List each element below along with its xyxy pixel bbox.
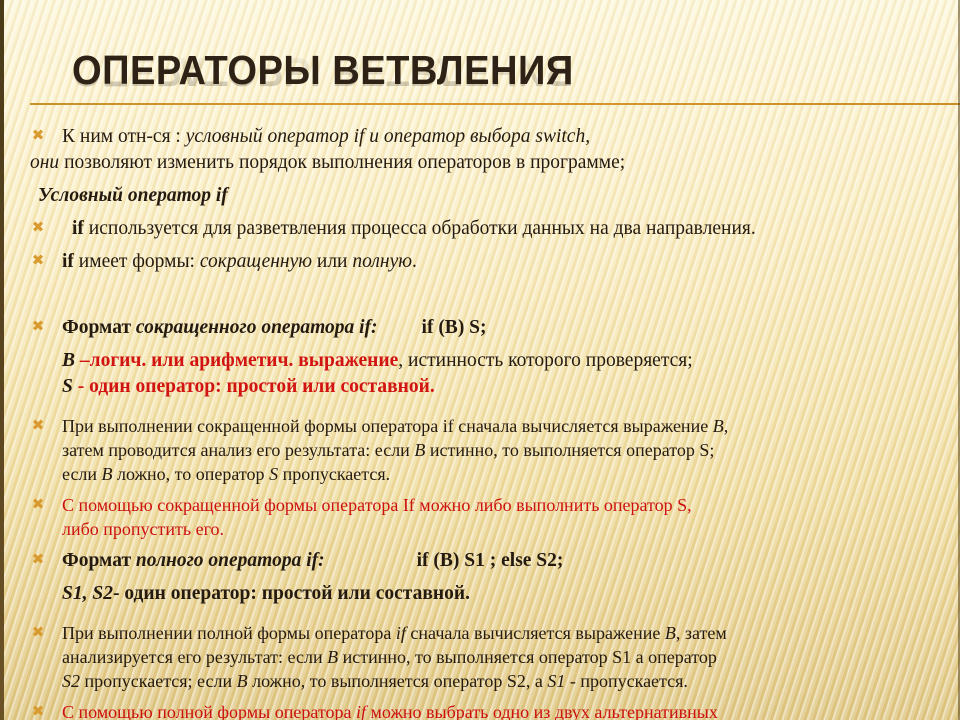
bullet-icon: ✖: [30, 625, 46, 641]
bullet-icon: ✖: [30, 253, 46, 269]
text-run: пропускается; если: [80, 671, 237, 691]
text-run-bold: if: [72, 218, 89, 239]
title-area: ОПЕРАТОРЫ ВЕТВЛЕНИЯ ОПЕРАТОРЫ ВЕТВЛЕНИЯ: [72, 47, 932, 107]
text-run: или: [312, 251, 352, 272]
list-item: ✖ if имеет формы: сокращенную или полную…: [0, 249, 960, 275]
text-run: сначала вычисляется выражение: [406, 623, 665, 643]
var-s1: S1: [547, 671, 565, 691]
line: С помощью полной формы оператора if можн…: [62, 700, 942, 720]
bullet-icon: ✖: [30, 704, 46, 720]
paragraph-text: они позволяют изменить порядок выполнени…: [30, 150, 942, 176]
paragraph: они позволяют изменить порядок выполнени…: [0, 150, 960, 176]
bullet-icon: ✖: [30, 552, 46, 568]
list-item-short-form-desc: ✖ При выполнении сокращенной формы опера…: [0, 414, 960, 486]
keyword-if: if: [356, 702, 366, 720]
text-run-italic: условный оператор if и оператор выбора s…: [186, 126, 590, 147]
subheading: Условный оператор if: [0, 183, 960, 209]
list-item-format-short: ✖ Формат сокращенного оператора if:if (B…: [0, 315, 960, 341]
page-title: ОПЕРАТОРЫ ВЕТВЛЕНИЯ: [72, 47, 872, 93]
text-run: , истинность которого проверяется;: [398, 350, 692, 371]
text-run: С помощью полной формы оператора: [62, 702, 356, 720]
format-short-text: Формат сокращенного оператора if:if (B) …: [62, 315, 942, 341]
code-format-short: if (B) S;: [422, 317, 487, 338]
var-s2: S2: [62, 671, 80, 691]
keyword-if: if: [396, 623, 406, 643]
text-run: - пропускается.: [565, 671, 688, 691]
list-item: ✖ if используется для разветвления проце…: [0, 216, 960, 242]
var-s: S: [62, 376, 73, 397]
subheading-text: Условный оператор if: [30, 183, 942, 209]
slide: ОПЕРАТОРЫ ВЕТВЛЕНИЯ ОПЕРАТОРЫ ВЕТВЛЕНИЯ …: [0, 0, 960, 720]
text-run: - один оператор: простой или составной.: [113, 583, 470, 604]
red-note-2-text: С помощью полной формы оператора if можн…: [62, 700, 942, 720]
bullet-icon: ✖: [30, 319, 46, 335]
list-item-text: К ним отн-ся : условный оператор if и оп…: [62, 124, 942, 150]
text-run: пропускается.: [278, 464, 390, 484]
bullet-icon: ✖: [30, 497, 46, 513]
text-run-italic: сокращенную: [200, 251, 312, 272]
short-form-desc-text: При выполнении сокращенной формы операто…: [62, 414, 942, 486]
line: При выполнении сокращенной формы операто…: [62, 414, 942, 438]
text-run: имеет формы:: [74, 251, 200, 272]
text-run-bold-italic: полного оператора if:: [136, 550, 325, 571]
code-format-full: if (B) S1 ; else S2;: [417, 550, 564, 571]
text-run: К ним отн-ся :: [62, 126, 186, 147]
var-b: B: [62, 350, 75, 371]
var-s12: S1, S2: [62, 583, 113, 604]
title-divider: [30, 103, 960, 105]
definition-s12-text: S1, S2- один оператор: простой или соста…: [62, 581, 942, 607]
text-run: анализируется его результат: если: [62, 647, 327, 667]
var-b: B: [237, 671, 248, 691]
var-b: B: [327, 647, 338, 667]
list-item-format-full: ✖ Формат полного оператора if:if (B) S1 …: [0, 548, 960, 574]
text-run: можно выбрать одно из двух альтернативны…: [366, 702, 718, 720]
text-run-bold: Формат: [62, 317, 136, 338]
bullet-icon: ✖: [30, 128, 46, 144]
var-s: S: [269, 464, 278, 484]
text-run-bold: Формат: [62, 550, 136, 571]
text-run: затем проводится анализ его результата: …: [62, 440, 414, 460]
var-b: B: [665, 623, 676, 643]
slide-body: ✖ К ним отн-ся : условный оператор if и …: [0, 124, 960, 720]
text-run: используется для разветвления процесса о…: [89, 218, 756, 239]
definition-s-text: S - один оператор: простой или составной…: [62, 374, 942, 400]
list-item-red-note-1: ✖ С помощью сокращенной формы оператора …: [0, 493, 960, 541]
var-b: B: [713, 416, 724, 436]
text-run-red: –логич. или арифметич. выражение: [75, 350, 398, 371]
list-item: ✖ К ним отн-ся : условный оператор if и …: [0, 124, 960, 150]
line: При выполнении полной формы оператора if…: [62, 621, 942, 645]
definition-b-text: B –логич. или арифметич. выражение, исти…: [62, 348, 942, 374]
bullet-icon: ✖: [30, 220, 46, 236]
definition-b: B –логич. или арифметич. выражение, исти…: [0, 348, 960, 374]
text-run: истинно, то выполняется оператор S1 а оп…: [338, 647, 717, 667]
bullet-icon: ✖: [30, 418, 46, 434]
text-run: При выполнении сокращенной формы операто…: [62, 416, 713, 436]
line: анализируется его результат: если B исти…: [62, 645, 942, 669]
text-run: При выполнении полной формы оператора: [62, 623, 396, 643]
text-run: ложно, то оператор: [113, 464, 270, 484]
full-form-desc-text: При выполнении полной формы оператора if…: [62, 621, 942, 693]
line: С помощью сокращенной формы оператора If…: [62, 493, 942, 517]
text-run-bold: if: [62, 251, 74, 272]
text-run: ;: [620, 152, 625, 173]
var-b: B: [414, 440, 425, 460]
line: затем проводится анализ его результата: …: [62, 438, 942, 462]
list-item-text: if имеет формы: сокращенную или полную.: [62, 249, 942, 275]
text-run-italic: полную: [352, 251, 412, 272]
format-full-text: Формат полного оператора if:if (B) S1 ; …: [62, 548, 942, 574]
text-run: если: [62, 464, 102, 484]
red-note-1-text: С помощью сокращенной формы оператора If…: [62, 493, 942, 541]
text-run: .: [412, 251, 417, 272]
text-run-bold-italic: сокращенного оператора if:: [136, 317, 378, 338]
list-item-full-form-desc: ✖ При выполнении полной формы оператора …: [0, 621, 960, 693]
text-run-red: - один оператор: простой или составной.: [73, 376, 435, 397]
text-run: , затем: [676, 623, 727, 643]
var-b: B: [102, 464, 113, 484]
text-run: ,: [724, 416, 729, 436]
list-item-red-note-2: ✖ С помощью полной формы оператора if мо…: [0, 700, 960, 720]
list-item-text: if используется для разветвления процесс…: [62, 216, 942, 242]
line: если B ложно, то оператор S пропускается…: [62, 462, 942, 486]
text-run-italic: они: [30, 152, 64, 173]
line: либо пропустить его.: [62, 517, 942, 541]
line: S2 пропускается; если B ложно, то выполн…: [62, 669, 942, 693]
text-run: позволяют изменить порядок выполнения оп…: [64, 152, 620, 173]
text-run: истинно, то выполняется оператор S;: [425, 440, 714, 460]
definition-s12: S1, S2- один оператор: простой или соста…: [0, 581, 960, 607]
definition-s: S - один оператор: простой или составной…: [0, 374, 960, 400]
text-run: ложно, то выполняется оператор S2, а: [248, 671, 548, 691]
